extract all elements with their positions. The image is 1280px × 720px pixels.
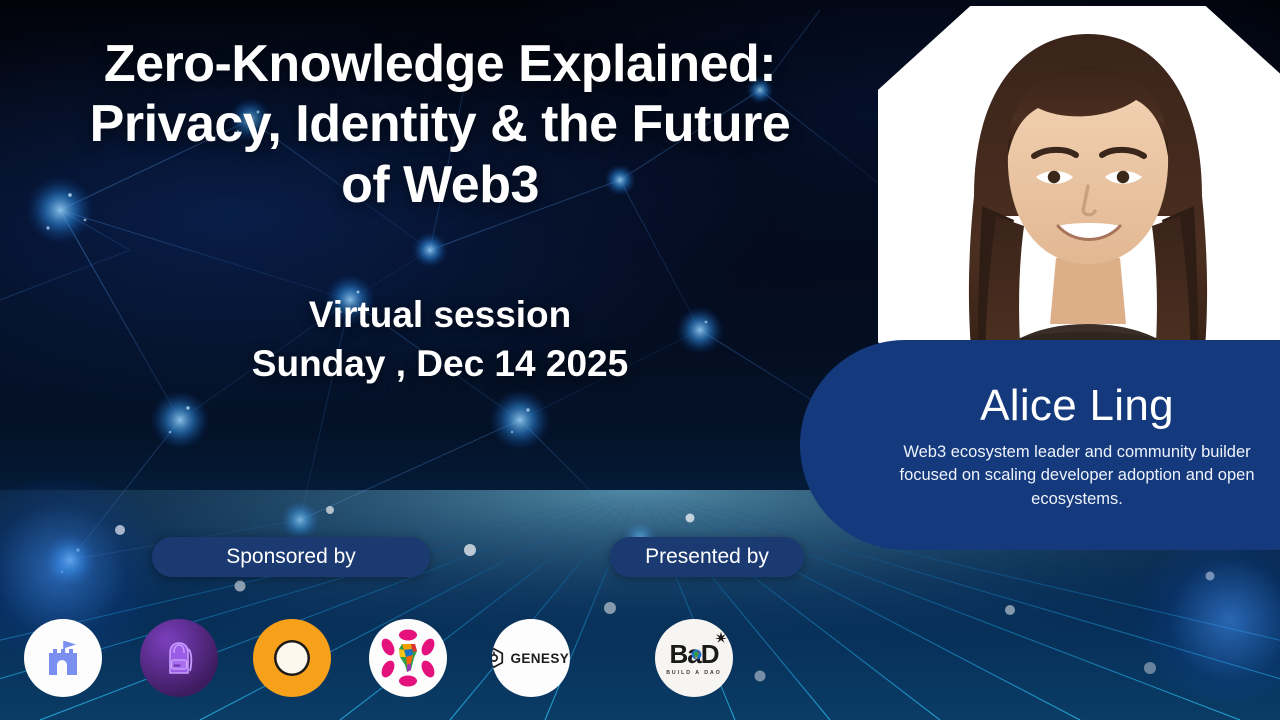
genesys-logo[interactable]: GENESYS xyxy=(492,619,570,697)
africa-ring-logo[interactable] xyxy=(369,619,447,697)
session-date: Sunday , Dec 14 2025 xyxy=(252,340,628,389)
compass-logo[interactable] xyxy=(253,619,331,697)
spark-icon xyxy=(714,631,728,645)
session-info: Virtual session Sunday , Dec 14 2025 xyxy=(252,291,628,389)
bad-globe-icon xyxy=(691,649,702,660)
speaker-name: Alice Ling xyxy=(880,384,1274,428)
sponsored-by-text: Sponsored by xyxy=(226,545,356,569)
backpack-icon xyxy=(156,635,202,681)
genesys-cube-icon xyxy=(492,647,505,669)
speaker-bio: Web3 ecosystem leader and community buil… xyxy=(881,441,1273,511)
partner-logo-row: GENESYS BaD BUILD A DAO xyxy=(0,619,780,711)
title-line-2: Privacy, Identity & the Future xyxy=(40,94,840,154)
build-a-dao-logo[interactable]: BaD BUILD A DAO xyxy=(655,619,733,697)
sponsored-by-label: Sponsored by xyxy=(152,537,430,577)
speaker-info-card: Alice Ling Web3 ecosystem leader and com… xyxy=(800,340,1280,550)
page-title: Zero-Knowledge Explained: Privacy, Ident… xyxy=(40,34,840,215)
event-details-column: Zero-Knowledge Explained: Privacy, Ident… xyxy=(0,0,880,600)
title-line-1: Zero-Knowledge Explained: xyxy=(40,34,840,94)
genesys-wordmark: GENESYS xyxy=(510,651,570,666)
bad-tagline: BUILD A DAO xyxy=(666,670,722,676)
presented-by-text: Presented by xyxy=(645,545,769,569)
castle-icon xyxy=(40,635,86,681)
title-line-3: of Web3 xyxy=(40,155,840,215)
compass-icon xyxy=(264,630,320,686)
castle-logo[interactable] xyxy=(24,619,102,697)
backpack-logo[interactable] xyxy=(140,619,218,697)
africa-ring-icon xyxy=(375,625,441,691)
session-format: Virtual session xyxy=(252,291,628,340)
event-promo-banner: Zero-Knowledge Explained: Privacy, Ident… xyxy=(0,0,1280,720)
presented-by-label: Presented by xyxy=(610,537,804,577)
